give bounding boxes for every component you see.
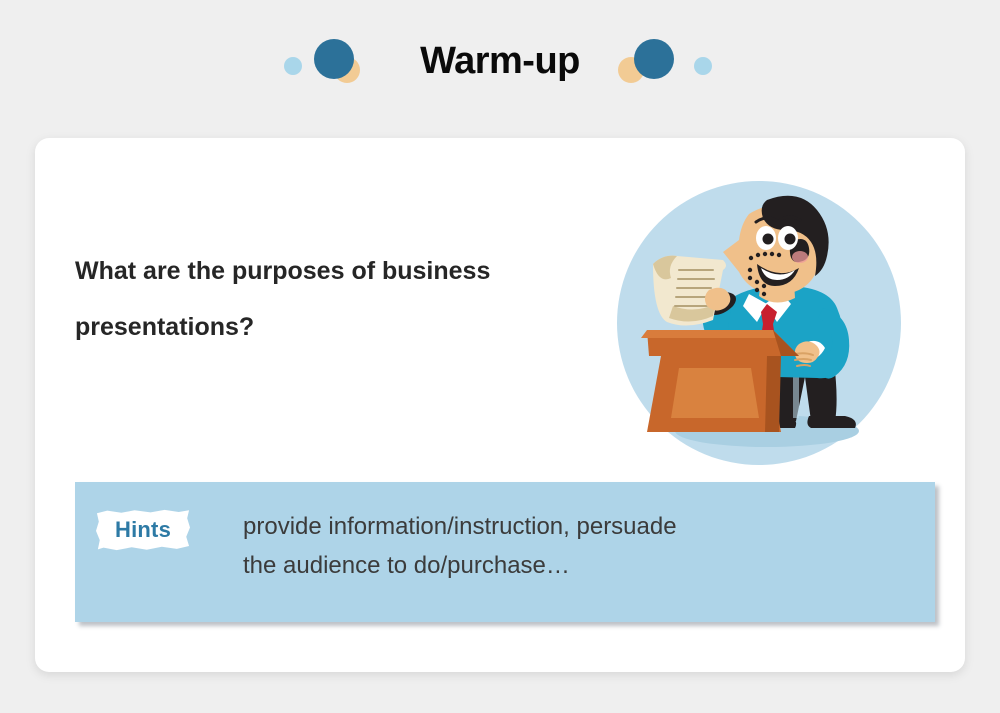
decoration-dots-left bbox=[276, 31, 394, 91]
hints-badge: Hints bbox=[96, 509, 190, 551]
hints-badge-label: Hints bbox=[96, 509, 190, 551]
decoration-dots-right bbox=[606, 31, 724, 91]
content-card: What are the purposes of business presen… bbox=[35, 138, 965, 672]
small-light-blue-dot-icon bbox=[694, 57, 712, 75]
hints-line-2: the audience to do/purchase… bbox=[243, 546, 903, 585]
small-light-blue-dot-icon bbox=[284, 57, 302, 75]
hints-text: provide information/instruction, persuad… bbox=[243, 507, 903, 585]
large-blue-dot-icon bbox=[634, 39, 674, 79]
large-blue-dot-icon bbox=[314, 39, 354, 79]
businessman-at-podium-illustration bbox=[617, 178, 902, 468]
page-title: Warm-up bbox=[394, 40, 606, 83]
hints-strip: Hints provide information/instruction, p… bbox=[75, 482, 935, 622]
header: Warm-up bbox=[0, 0, 1000, 138]
question-text: What are the purposes of business presen… bbox=[75, 243, 620, 355]
question-line-1: What are the purposes of business bbox=[75, 257, 490, 285]
question-line-2: presentations? bbox=[75, 313, 254, 341]
hints-line-1: provide information/instruction, persuad… bbox=[243, 507, 903, 546]
header-inner: Warm-up bbox=[276, 31, 724, 91]
